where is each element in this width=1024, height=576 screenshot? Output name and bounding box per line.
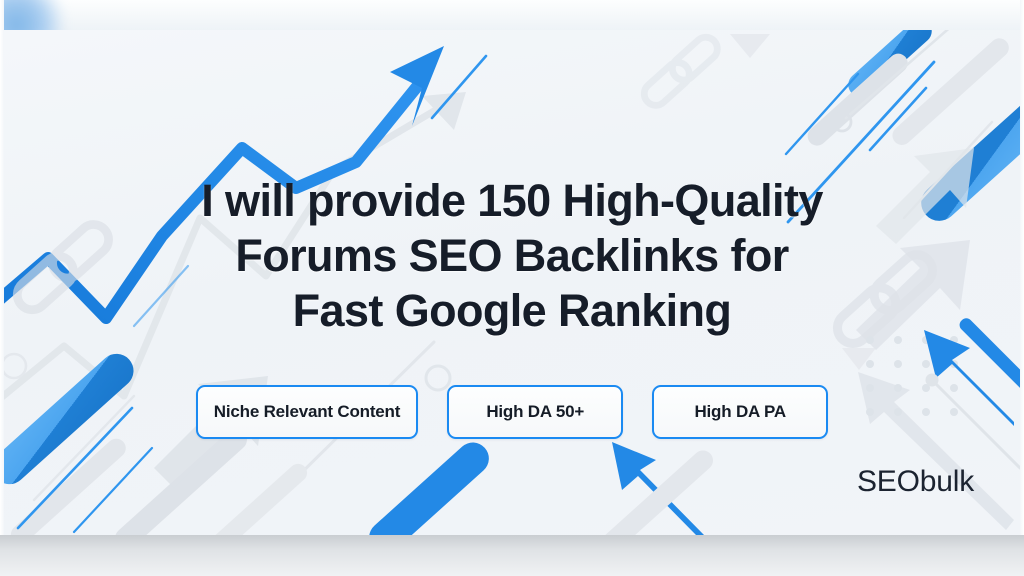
- badge-high-da-pa[interactable]: High DA PA: [652, 385, 828, 439]
- badge-high-da-50-plus[interactable]: High DA 50+: [447, 385, 623, 439]
- headline-line-1: I will provide 150 High-Quality: [4, 173, 1020, 228]
- badge-niche-relevant-content[interactable]: Niche Relevant Content: [196, 385, 418, 439]
- frame-bottom-band: [0, 535, 1024, 576]
- page-title: I will provide 150 High-Quality Forums S…: [4, 173, 1020, 338]
- frame-left-band: [0, 0, 4, 576]
- headline-line-3: Fast Google Ranking: [4, 283, 1020, 338]
- frame-right-band: [1020, 0, 1024, 576]
- brand-logo: SEObulk: [857, 465, 974, 499]
- banner-card: I will provide 150 High-Quality Forums S…: [4, 30, 1020, 535]
- feature-badge-list: Niche Relevant Content High DA 50+ High …: [4, 385, 1020, 439]
- frame-top-band: [0, 0, 1024, 30]
- banner-image: I will provide 150 High-Quality Forums S…: [0, 0, 1024, 576]
- headline-line-2: Forums SEO Backlinks for: [4, 228, 1020, 283]
